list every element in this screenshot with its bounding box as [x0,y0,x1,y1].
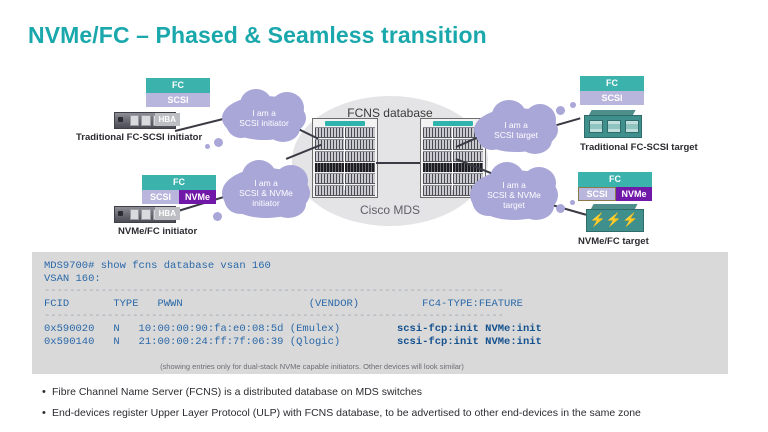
cloud-scsi-nvme-initiator-text: I am aSCSI & NVMeinitiator [222,178,310,208]
cli-row-1-fcid: 0x590140 [44,336,94,348]
server-icon-traditional-initiator: HBA [114,112,176,129]
cloud-scsi-target-text: I am aSCSI target [474,120,558,140]
cloud-dot-d2 [570,200,575,205]
caption-traditional-fc-scsi-initiator: Traditional FC-SCSI initiator [76,132,202,143]
caption-nvme-fc-initiator: NVMe/FC initiator [118,226,197,237]
cloud-scsi-nvme-target-text: I am aSCSI & NVMetarget [470,180,558,210]
list-item: • End-devices register Upper Layer Proto… [42,407,742,420]
stack-nvme-fc-target: FC SCSI NVMe [578,172,652,201]
cloud-dot-c1 [556,106,565,115]
stack-nvme-label: NVMe [179,190,216,204]
cli-header-type: TYPE [113,298,138,310]
cli-row-0-type: N [113,323,119,335]
cli-text: MDS9700# show fcns database vsan 160 VSA… [32,252,728,348]
hba-badge: HBA [155,113,180,126]
cloud-scsi-target: I am aSCSI target [474,108,558,152]
bullet-marker-icon: • [42,407,52,420]
caption-nvme-fc-target: NVMe/FC target [578,236,649,247]
cloud-dot-b1 [213,212,222,221]
flash-array-icon-nvme-target: ⚡⚡⚡ [586,204,642,230]
server-icon-nvme-initiator: HBA [114,206,176,223]
architecture-diagram: FCNS database Cisco MDS [0,62,768,247]
list-item: • Fibre Channel Name Server (FCNS) is a … [42,386,742,399]
page-title: NVMe/FC – Phased & Seamless transition [28,22,487,49]
cloud-scsi-nvme-initiator: I am aSCSI & NVMeinitiator [222,168,310,218]
stack-traditional-fc-scsi-target: FC SCSI [580,76,644,105]
cli-prompt-line: MDS9700# show fcns database vsan 160 [44,260,271,272]
cli-header-fc4: FC4-TYPE:FEATURE [422,298,523,310]
stack-nvme-label: NVMe [616,187,652,201]
stack-nvme-fc-initiator: FC SCSI NVMe [142,175,216,204]
cli-row-1-type: N [113,336,119,348]
cli-header-vendor: (VENDOR) [309,298,359,310]
cli-header-pwwn: PWWN [157,298,182,310]
stack-scsi-label: SCSI [578,187,616,201]
stack-scsi-label: SCSI [142,190,179,204]
cli-row-0-fc4: scsi-fcp:init NVMe:init [397,323,542,335]
cloud-dot-a1 [214,138,223,147]
cli-row-0-pwwn: 10:00:00:90:fa:e0:08:5d [139,323,284,335]
stack-scsi-label: SCSI [580,91,644,105]
flash-bolts-icon: ⚡⚡⚡ [586,209,642,230]
cli-rule-top: ----------------------------------------… [44,285,504,297]
stack-fc-label: FC [580,76,644,91]
hba-badge: HBA [155,207,180,220]
bullet-marker-icon: • [42,386,52,399]
caption-traditional-fc-scsi-target: Traditional FC-SCSI target [580,142,698,153]
bullet-text: Fibre Channel Name Server (FCNS) is a di… [52,386,422,399]
cli-row-1-fc4: scsi-fcp:init NVMe:init [397,336,542,348]
cloud-dot-a2 [205,144,210,149]
bullet-list: • Fibre Channel Name Server (FCNS) is a … [42,386,742,428]
cli-footnote: (showing entries only for dual-stack NVM… [32,362,592,371]
link-line-scsi-initiator [175,118,224,132]
cli-row-1-vendor: (Qlogic) [290,336,340,348]
cli-row-0-fcid: 0x590020 [44,323,94,335]
cli-output-panel: MDS9700# show fcns database vsan 160 VSA… [32,252,728,374]
cli-row-1-pwwn: 21:00:00:24:ff:7f:06:39 [139,336,284,348]
cli-vsan-line: VSAN 160: [44,273,101,285]
storage-array-icon-traditional-target [584,110,640,136]
isl-link-line [376,162,420,164]
slide: NVMe/FC – Phased & Seamless transition F… [0,0,768,432]
cloud-scsi-nvme-target: I am aSCSI & NVMetarget [470,170,558,220]
cli-header-fcid: FCID [44,298,69,310]
cli-row-0-vendor: (Emulex) [290,323,340,335]
stack-fc-label: FC [146,78,210,93]
cloud-scsi-initiator: I am aSCSI initiator [222,96,306,140]
bullet-text: End-devices register Upper Layer Protoco… [52,407,641,420]
cloud-dot-c2 [570,102,576,108]
stack-scsi-label: SCSI [146,93,210,107]
cisco-mds-label: Cisco MDS [292,203,488,217]
cli-rule-mid: ----------------------------------------… [44,310,504,322]
cloud-scsi-initiator-text: I am aSCSI initiator [222,108,306,128]
mds-switch-icon-left [312,118,378,198]
stack-traditional-fc-scsi-initiator: FC SCSI [146,78,210,107]
stack-fc-label: FC [142,175,216,190]
stack-fc-label: FC [578,172,652,187]
